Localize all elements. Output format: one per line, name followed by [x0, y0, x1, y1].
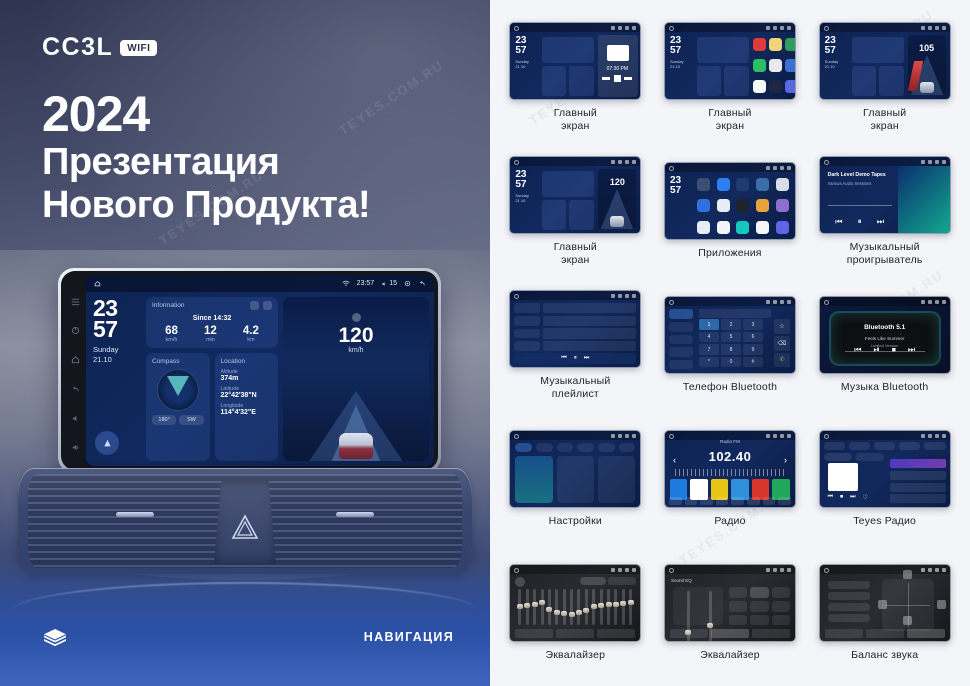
- thumbnail-bluetooth-music[interactable]: Bluetooth 5.1 Feels Like Summer Limited …: [819, 296, 951, 374]
- head-unit-screen[interactable]: 23:57 15: [86, 275, 434, 466]
- teyes-transport-controls[interactable]: ⏮ ⏹ ⏭ ♡: [828, 494, 883, 501]
- balance-rear-button[interactable]: [903, 616, 912, 625]
- equalizer-footer-tabs[interactable]: [515, 629, 635, 638]
- thumbnail-settings[interactable]: [509, 430, 641, 508]
- hazard-button[interactable]: [214, 480, 276, 564]
- prev-icon[interactable]: ⏮: [561, 355, 566, 362]
- thumbnail-equalizer-bands[interactable]: [509, 564, 641, 642]
- hero-title-block: 2024 Презентация Нового Продукта!: [42, 88, 370, 226]
- car-3d-model: [339, 433, 373, 459]
- altitude-value: 374m: [221, 375, 273, 382]
- dial-keypad[interactable]: 1 2 3 4 5 6 7 8 9 * 0 #: [699, 319, 763, 367]
- next-icon[interactable]: ⏭: [877, 217, 884, 227]
- stat-value: 12: [204, 325, 217, 337]
- thumbnail-apps[interactable]: 2357: [664, 162, 796, 240]
- grid-cell[interactable]: Radio FM 102.40 ‹ › Радио: [653, 412, 808, 546]
- phone-actions[interactable]: ☆ ⌫ ✆: [774, 319, 790, 367]
- thumbnail-grid: 2357 Sunday21.10 07:30 PM Главныйэкран: [490, 0, 970, 686]
- speed-value: 120: [283, 325, 429, 346]
- radio-station-name: Radio FM: [665, 439, 795, 444]
- equalizer-sliders[interactable]: [518, 589, 632, 625]
- hero-panel: TEYES.COM.RU TEYES.COM.RU TEYES.COM.RU C…: [0, 0, 490, 686]
- stop-icon[interactable]: ⏹: [840, 494, 843, 501]
- stat-unit: km/h: [165, 337, 178, 343]
- navigation-label: НАВИГАЦИЯ: [364, 630, 454, 644]
- status-volume-value: 15: [389, 280, 397, 287]
- phone-sidebar[interactable]: [669, 309, 693, 369]
- thumbnail-caption: Главныйэкран: [554, 107, 597, 132]
- drive-speed-value: 105: [908, 43, 946, 53]
- stat-value: 4.2: [243, 325, 259, 337]
- key-9[interactable]: 9: [743, 344, 763, 355]
- key-5[interactable]: 5: [721, 332, 741, 343]
- grid-cell[interactable]: ⏮ ⏸ ⏭ Музыкальныйплейлист: [498, 278, 653, 412]
- thumbnail-caption: Главныйэкран: [554, 241, 597, 266]
- prev-icon[interactable]: ⏮: [854, 345, 861, 355]
- teyes-station-list[interactable]: [890, 459, 946, 503]
- key-star[interactable]: *: [699, 357, 719, 368]
- brand-name: CC3L: [42, 33, 113, 62]
- next-icon[interactable]: ⏭: [850, 494, 855, 501]
- location-title: Location: [221, 358, 273, 365]
- thumbnail-home-drive[interactable]: 2357 Sunday21.10 105: [819, 22, 951, 100]
- hero-title-line2: Нового Продукта!: [42, 184, 370, 227]
- compass-title: Compass: [152, 358, 204, 365]
- vent-knob-right[interactable]: [336, 512, 374, 517]
- equalizer-footer-tabs[interactable]: [670, 629, 790, 638]
- grid-cell[interactable]: 2357 Приложения: [653, 144, 808, 278]
- clock-widget[interactable]: 23 57 Sunday 21.10: [91, 297, 141, 461]
- grid-cell[interactable]: Баланс звука: [807, 546, 962, 680]
- app-grid[interactable]: [695, 175, 791, 236]
- menu-key-icon[interactable]: [71, 293, 80, 302]
- compass-direction: SW: [179, 415, 203, 425]
- player-track-title: Dark Level Demo Tapes: [828, 172, 886, 178]
- status-bar: 23:57 15: [86, 275, 434, 292]
- prev-station-icon[interactable]: ‹: [673, 455, 676, 465]
- thumbnail-home-music[interactable]: 2357 Sunday21.10 07:30 PM: [509, 22, 641, 100]
- key-0[interactable]: 0: [721, 357, 741, 368]
- balance-preset-list[interactable]: [828, 581, 870, 622]
- grid-cell[interactable]: 2357 Sunday21.10 Главныйэкран: [653, 10, 808, 144]
- thumbnail-caption: Teyes Радио: [853, 515, 916, 527]
- thumbnail-music-player[interactable]: Dark Level Demo Tapes Various Audio Sess…: [819, 156, 951, 234]
- grid-cell[interactable]: Dark Level Demo Tapes Various Audio Sess…: [807, 144, 962, 278]
- back-key-icon[interactable]: [71, 381, 80, 390]
- information-card[interactable]: Information Since 14:32 68: [146, 297, 278, 348]
- key-3[interactable]: 3: [743, 319, 763, 330]
- hero-year: 2024: [42, 88, 370, 141]
- grid-cell[interactable]: Sound EQ: [653, 546, 808, 680]
- bluetooth-card: Bluetooth 5.1 Feels Like Summer Limited …: [831, 313, 939, 364]
- thumbnail-home-apps[interactable]: 2357 Sunday21.10: [664, 22, 796, 100]
- call-icon[interactable]: ✆: [774, 353, 790, 368]
- balance-right-button[interactable]: [937, 600, 946, 609]
- speed-readout: 120 km/h: [283, 313, 429, 354]
- refresh-icon[interactable]: [263, 301, 272, 310]
- pause-icon[interactable]: ⏸: [858, 217, 862, 227]
- playlist-items[interactable]: [543, 303, 636, 351]
- grid-cell[interactable]: Эквалайзер: [498, 546, 653, 680]
- thumbnail-caption: Эквалайзер: [546, 649, 606, 661]
- clock-day: Sunday: [93, 345, 139, 354]
- prev-icon[interactable]: ⏮: [835, 217, 842, 227]
- thumbnail-caption: Телефон Bluetooth: [683, 381, 777, 393]
- thumbnail-radio[interactable]: Radio FM 102.40 ‹ ›: [664, 430, 796, 508]
- settings-tiles[interactable]: [515, 456, 635, 503]
- thumbnail-caption: Настройки: [549, 515, 602, 527]
- location-card[interactable]: Location Altitude 374m Latitude 22°42'38…: [215, 353, 279, 461]
- wifi-icon: [342, 280, 350, 287]
- play-pause-icon[interactable]: ⏯: [873, 345, 879, 355]
- next-station-icon[interactable]: ›: [784, 455, 787, 465]
- volume-up-key-icon[interactable]: [71, 439, 80, 448]
- pause-icon[interactable]: ⏸: [574, 355, 577, 362]
- head-unit-side-keys[interactable]: [64, 275, 86, 466]
- thumbnail-caption: Баланс звука: [851, 649, 918, 661]
- favorite-star-icon[interactable]: ☆: [774, 319, 790, 334]
- backspace-icon[interactable]: ⌫: [774, 336, 790, 351]
- status-volume: 15: [381, 280, 397, 287]
- thumbnail-caption: Радио: [714, 515, 745, 527]
- grid-cell[interactable]: 2357 Sunday21.10 07:30 PM Главныйэкран: [498, 10, 653, 144]
- equalizer-preset-buttons[interactable]: [729, 587, 790, 625]
- brand-logo: CC3L WIFI: [42, 33, 157, 62]
- latitude-value: 22°42'38"N: [221, 392, 273, 399]
- thumbnail-caption: Эквалайзер: [700, 649, 760, 661]
- key-hash[interactable]: #: [743, 357, 763, 368]
- assistant-button[interactable]: [95, 431, 119, 455]
- mini-clock-mm: 57: [515, 45, 526, 56]
- thumbnail-playlist[interactable]: ⏮ ⏸ ⏭: [509, 290, 641, 368]
- stat-unit: km: [243, 337, 259, 343]
- longitude-value: 114°4'32"E: [221, 409, 273, 416]
- home-key-icon[interactable]: [71, 351, 80, 360]
- compass-card[interactable]: Compass 180° SW: [146, 353, 210, 461]
- gps-icon: [404, 280, 411, 287]
- radio-frequency: 102.40: [665, 449, 795, 464]
- mini-date: Sunday21.10: [515, 59, 529, 69]
- bluetooth-title: Bluetooth 5.1: [831, 324, 939, 331]
- balance-left-button[interactable]: [878, 600, 887, 609]
- thumbnail-sound-balance[interactable]: [819, 564, 951, 642]
- compass-rose-icon: [157, 369, 199, 411]
- hazard-triangle-icon: [230, 513, 260, 541]
- thumbnail-bluetooth-phone[interactable]: 1 2 3 4 5 6 7 8 9 * 0 # ☆: [664, 296, 796, 374]
- driving-view-widget[interactable]: 120 km/h: [283, 297, 429, 461]
- thumbnail-caption: Музыкальныйплейлист: [540, 375, 610, 400]
- stat-item: 12 min: [204, 325, 217, 343]
- home-indicator-icon[interactable]: [94, 280, 101, 287]
- bluetooth-track: Feels Like Summer: [831, 336, 939, 341]
- stat-item: 68 km/h: [165, 325, 178, 343]
- radio-toolbar[interactable]: [669, 497, 791, 505]
- key-8[interactable]: 8: [721, 344, 741, 355]
- grid-cell[interactable]: Bluetooth 5.1 Feels Like Summer Limited …: [807, 278, 962, 412]
- key-4[interactable]: 4: [699, 332, 719, 343]
- compass-heading: 180°: [152, 415, 176, 425]
- thumbnail-home-nav[interactable]: 2357 Sunday21.10 120: [509, 156, 641, 234]
- vent-knob-left[interactable]: [116, 512, 154, 517]
- playlist-player-bar[interactable]: ⏮ ⏸ ⏭: [514, 353, 636, 364]
- speed-unit: km/h: [283, 347, 429, 354]
- grid-cell[interactable]: Настройки: [498, 412, 653, 546]
- back-icon[interactable]: [418, 280, 426, 287]
- thumbnail-caption: Приложения: [698, 247, 761, 259]
- hero-title-line1: Презентация: [42, 141, 370, 184]
- status-time: 23:57: [357, 280, 375, 287]
- teyes-radio-tabs[interactable]: [824, 442, 946, 450]
- key-2[interactable]: 2: [721, 319, 741, 330]
- thumbnail-teyes-radio[interactable]: ⏮ ⏹ ⏭ ♡: [819, 430, 951, 508]
- information-since: Since 14:32: [152, 315, 272, 322]
- grid-cell[interactable]: 1 2 3 4 5 6 7 8 9 * 0 # ☆: [653, 278, 808, 412]
- drive-speed-value: 120: [598, 177, 636, 187]
- head-unit: 23:57 15: [58, 268, 441, 473]
- thumbnail-caption: Главныйэкран: [863, 107, 906, 132]
- next-icon[interactable]: ⏭: [908, 345, 915, 355]
- grid-cell[interactable]: 2357 Sunday21.10 120 Главныйэкран: [498, 144, 653, 278]
- brand-wifi-badge: WIFI: [120, 40, 157, 56]
- thumbnail-caption: Главныйэкран: [708, 107, 751, 132]
- settings-tabs[interactable]: [515, 443, 635, 452]
- power-key-icon[interactable]: [71, 322, 80, 331]
- thumbnail-equalizer-presets[interactable]: Sound EQ: [664, 564, 796, 642]
- prev-icon[interactable]: ⏮: [828, 494, 833, 501]
- balance-footer-tabs[interactable]: [825, 629, 945, 638]
- grid-cell[interactable]: ⏮ ⏹ ⏭ ♡ Teyes Радио: [807, 412, 962, 546]
- album-art: [828, 463, 858, 491]
- key-1[interactable]: 1: [699, 319, 719, 330]
- clock-minutes: 57: [93, 319, 139, 340]
- layers-icon: [42, 627, 68, 651]
- balance-front-button[interactable]: [903, 570, 912, 579]
- screenshot-grid-panel: TEYES.COM.RU TEYES.COM.RU TEYES.COM.RU T…: [490, 0, 970, 686]
- radio-tuning-scale[interactable]: [675, 469, 785, 476]
- presentation-page: TEYES.COM.RU TEYES.COM.RU TEYES.COM.RU C…: [0, 0, 970, 686]
- thumbnail-caption: Музыкальныйпроигрыватель: [847, 241, 923, 266]
- stop-icon[interactable]: ⏹: [892, 345, 896, 355]
- next-icon[interactable]: ⏭: [584, 355, 589, 362]
- information-stats: 68 km/h 12 min 4.2: [152, 325, 272, 343]
- settings-gear-icon[interactable]: [250, 301, 259, 310]
- key-6[interactable]: 6: [743, 332, 763, 343]
- volume-down-key-icon[interactable]: [71, 410, 80, 419]
- playlist-sidebar[interactable]: [514, 303, 540, 351]
- key-7[interactable]: 7: [699, 344, 719, 355]
- clock-date: 21.10: [93, 355, 139, 364]
- favorite-heart-icon[interactable]: ♡: [862, 494, 867, 501]
- grid-cell[interactable]: 2357 Sunday21.10 105 Главныйэкран: [807, 10, 962, 144]
- stat-unit: min: [204, 337, 217, 343]
- stat-item: 4.2 km: [243, 325, 259, 343]
- stat-value: 68: [165, 325, 178, 337]
- thumbnail-caption: Музыка Bluetooth: [841, 381, 929, 393]
- speed-gauge-icon: [352, 313, 361, 322]
